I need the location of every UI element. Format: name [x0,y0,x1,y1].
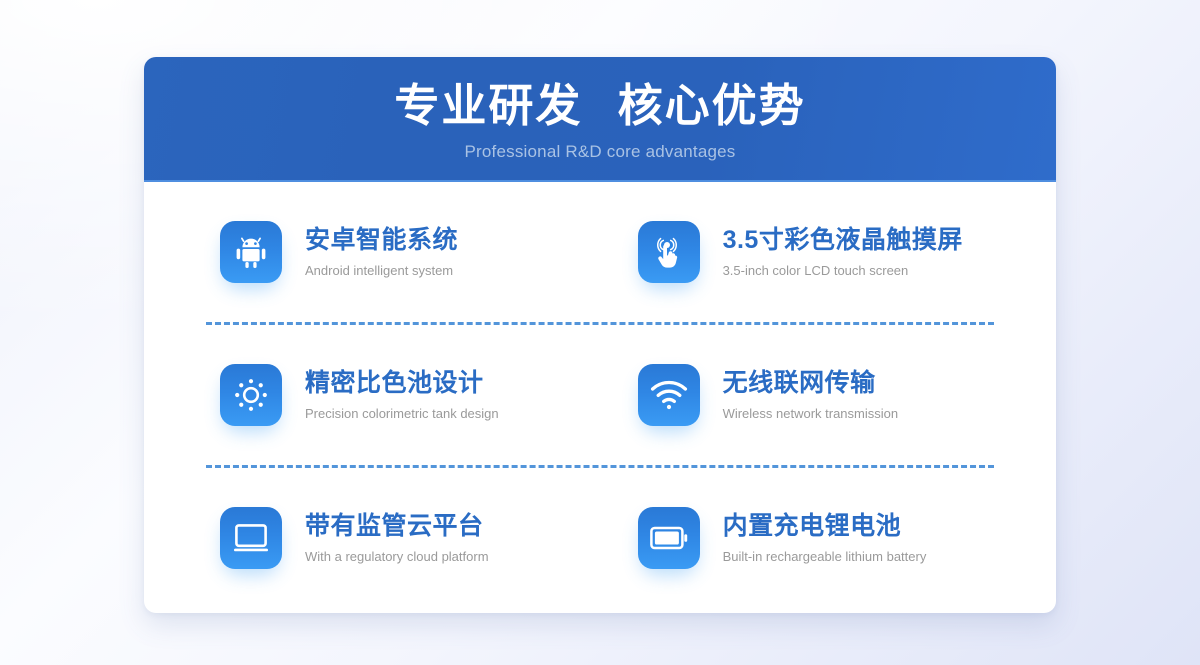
battery-icon [650,526,688,550]
laptop-monitor-icon [233,523,269,553]
feature-text: 带有监管云平台 With a regulatory cloud platform [305,512,489,564]
icon-wrapper [220,221,282,283]
wifi-icon [650,380,688,410]
feature-item-android[interactable]: 安卓智能系统 Android intelligent system [204,221,626,283]
feature-text: 3.5寸彩色液晶触摸屏 3.5-inch color LCD touch scr… [723,226,963,278]
icon-wrapper [220,507,282,569]
icon-wrapper [220,364,282,426]
icon-tile [638,221,700,283]
feature-subtitle: 3.5-inch color LCD touch screen [723,255,963,279]
feature-item-wireless[interactable]: 无线联网传输 Wireless network transmission [626,364,996,426]
feature-title: 内置充电锂电池 [723,512,927,541]
icon-tile [638,364,700,426]
feature-text: 无线联网传输 Wireless network transmission [723,369,899,421]
android-robot-icon [234,235,268,269]
features-grid: 安卓智能系统 Android intelligent system [144,182,1056,608]
feature-row: 安卓智能系统 Android intelligent system [204,182,996,322]
icon-tile [220,221,282,283]
icon-wrapper [638,507,700,569]
feature-row: 带有监管云平台 With a regulatory cloud platform [204,468,996,608]
feature-text: 精密比色池设计 Precision colorimetric tank desi… [305,369,499,421]
feature-title: 精密比色池设计 [305,369,499,398]
sun-brightness-icon [233,377,269,413]
feature-title: 3.5寸彩色液晶触摸屏 [723,226,963,255]
feature-title: 带有监管云平台 [305,512,489,541]
icon-wrapper [638,221,700,283]
page-title: 专业研发 核心优势 [144,57,1056,131]
feature-title: 安卓智能系统 [305,226,458,255]
icon-tile [638,507,700,569]
feature-text: 安卓智能系统 Android intelligent system [305,226,458,278]
feature-row: 精密比色池设计 Precision colorimetric tank desi… [204,325,996,465]
icon-tile [220,364,282,426]
feature-subtitle: With a regulatory cloud platform [305,541,489,565]
feature-subtitle: Wireless network transmission [723,398,899,422]
page-stage: 专业研发 核心优势 Professional R&D core advantag… [0,0,1200,665]
advantages-card: 专业研发 核心优势 Professional R&D core advantag… [144,57,1056,613]
feature-subtitle: Built-in rechargeable lithium battery [723,541,927,565]
icon-tile [220,507,282,569]
divider-1 [206,322,994,325]
feature-item-battery[interactable]: 内置充电锂电池 Built-in rechargeable lithium ba… [626,507,996,569]
feature-subtitle: Android intelligent system [305,255,458,279]
feature-title: 无线联网传输 [723,369,899,398]
card-header: 专业研发 核心优势 Professional R&D core advantag… [144,57,1056,182]
feature-item-cloud-platform[interactable]: 带有监管云平台 With a regulatory cloud platform [204,507,626,569]
icon-wrapper [638,364,700,426]
feature-item-colorimetric[interactable]: 精密比色池设计 Precision colorimetric tank desi… [204,364,626,426]
feature-subtitle: Precision colorimetric tank design [305,398,499,422]
feature-text: 内置充电锂电池 Built-in rechargeable lithium ba… [723,512,927,564]
feature-item-touchscreen[interactable]: 3.5寸彩色液晶触摸屏 3.5-inch color LCD touch scr… [626,221,996,283]
page-subtitle: Professional R&D core advantages [144,131,1056,162]
divider-2 [206,465,994,468]
touch-hand-icon [652,234,686,270]
